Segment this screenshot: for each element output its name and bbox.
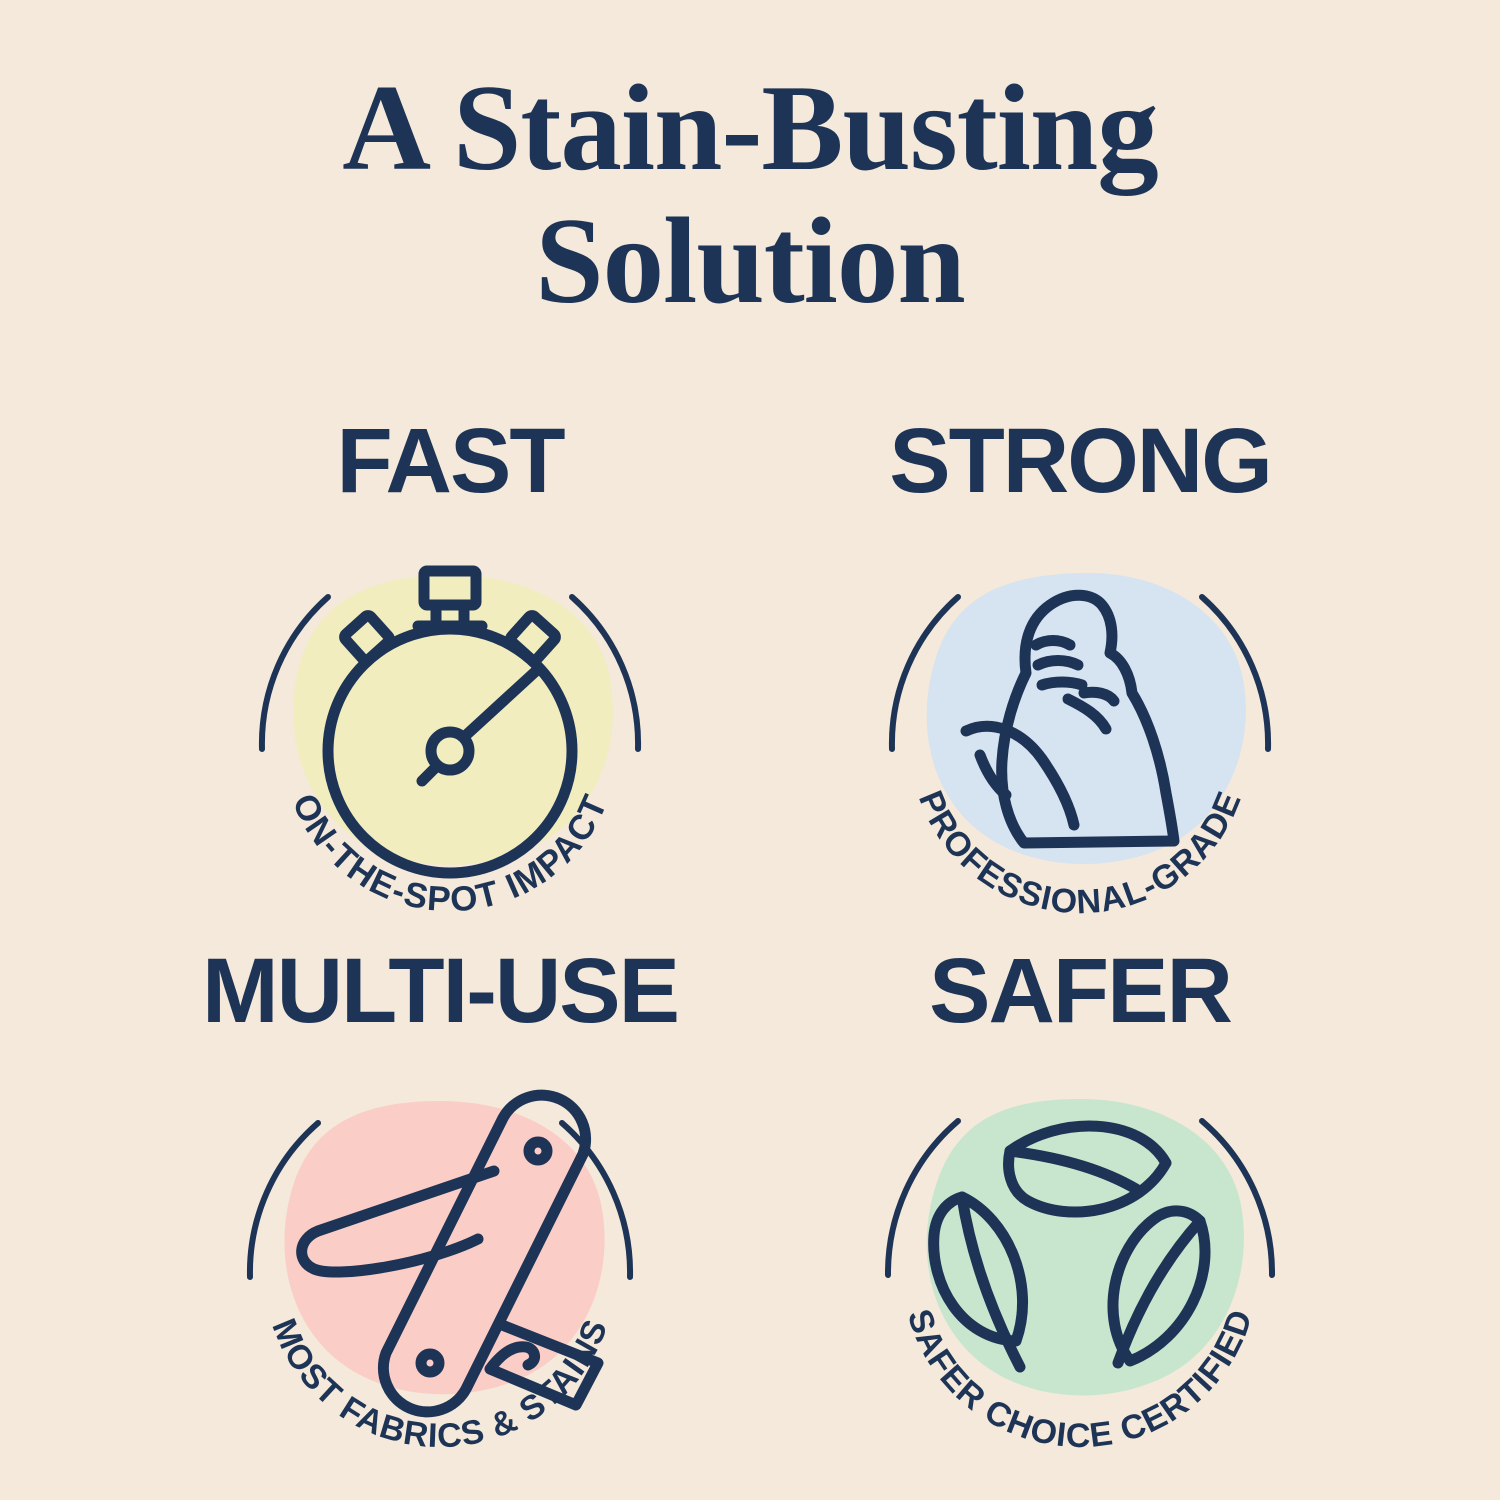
benefit-badge-fast[interactable]: FAST <box>130 415 770 935</box>
page-title: A Stain-Busting Solution <box>0 62 1500 328</box>
benefit-badge-strong[interactable]: STRONG <box>760 415 1400 935</box>
benefit-badge-multi-use[interactable]: MULTI-USE <box>120 945 760 1465</box>
benefit-badge-grid: FAST <box>0 415 1500 1475</box>
badge-emblem-multi-use: MOST FABRICS & STAINS <box>190 1023 690 1463</box>
badge-emblem-fast: ON-THE-SPOT IMPACT <box>200 493 700 933</box>
benefit-badge-safer[interactable]: SAFER <box>760 945 1400 1465</box>
infographic-canvas: A Stain-Busting Solution FAST <box>0 0 1500 1500</box>
badge-emblem-strong: PROFESSIONAL-GRADE <box>830 493 1330 933</box>
badge-emblem-safer: SAFER CHOICE CERTIFIED <box>830 1023 1330 1463</box>
